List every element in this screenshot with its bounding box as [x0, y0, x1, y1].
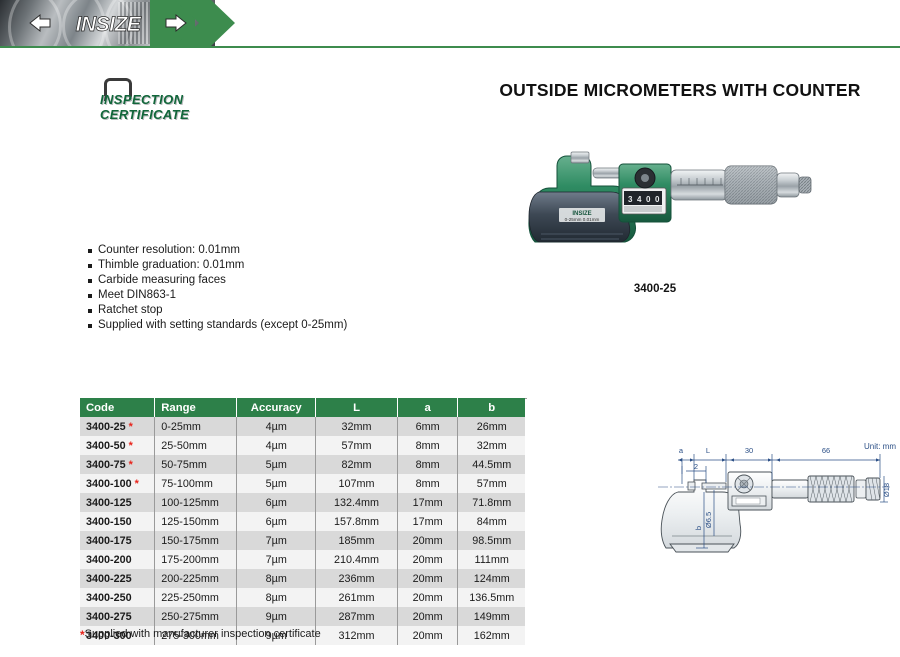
cell-b: 136.5mm: [458, 588, 525, 607]
dim-label-2: 2: [694, 462, 698, 471]
cell-accuracy: 6µm: [237, 493, 316, 512]
square-bullet-icon: [88, 258, 98, 273]
cell-a: 20mm: [397, 588, 458, 607]
feature-text: Supplied with setting standards (except …: [98, 318, 347, 333]
insize-logo: INSIZE: [28, 9, 188, 37]
cell-l: 287mm: [316, 607, 397, 626]
cell-range: 100-125mm: [155, 493, 237, 512]
cell-accuracy: 9µm: [237, 607, 316, 626]
cell-code: 3400-100 *: [80, 474, 155, 493]
feature-text: Thimble graduation: 0.01mm: [98, 258, 244, 273]
cell-l: 157.8mm: [316, 512, 397, 531]
cell-code: 3400-25 *: [80, 417, 155, 436]
certificate-star: *: [126, 459, 133, 471]
table-row: 3400-100 * 75-100mm 5µm 107mm 8mm 57mm: [80, 474, 525, 493]
table-row: 3400-250 225-250mm 8µm 261mm 20mm 136.5m…: [80, 588, 525, 607]
feature-list: Counter resolution: 0.01mm Thimble gradu…: [88, 243, 418, 333]
cell-code: 3400-50 *: [80, 436, 155, 455]
technical-drawing: Unit: mm: [648, 440, 900, 570]
cell-b: 111mm: [458, 550, 525, 569]
feature-text: Counter resolution: 0.01mm: [98, 243, 240, 258]
drawing-anvil: [688, 482, 695, 490]
table-row: 3400-225 200-225mm 8µm 236mm 20mm 124mm: [80, 569, 525, 588]
cell-l: 236mm: [316, 569, 397, 588]
cell-accuracy: 6µm: [237, 512, 316, 531]
dim-label-66: 66: [822, 446, 830, 455]
cell-b: 44.5mm: [458, 455, 525, 474]
product-caption: 3400-25: [565, 283, 745, 295]
feature-text: Meet DIN863-1: [98, 288, 176, 303]
cell-code: 3400-150: [80, 512, 155, 531]
list-item: Counter resolution: 0.01mm: [88, 243, 418, 258]
cell-l: 210.4mm: [316, 550, 397, 569]
column-header-accuracy: Accuracy: [237, 398, 316, 417]
cell-code: 3400-175: [80, 531, 155, 550]
cell-l: 132.4mm: [316, 493, 397, 512]
cell-code: 3400-125: [80, 493, 155, 512]
certificate-star: *: [132, 478, 139, 490]
certificate-star: *: [126, 440, 133, 452]
cell-accuracy: 8µm: [237, 569, 316, 588]
column-header-b: b: [458, 398, 525, 417]
cell-code: 3400-275: [80, 607, 155, 626]
drawing-unit-label: Unit: mm: [864, 442, 896, 451]
table-row: 3400-150 125-150mm 6µm 157.8mm 17mm 84mm: [80, 512, 525, 531]
cell-a: 20mm: [397, 569, 458, 588]
certificate-star: *: [126, 421, 133, 433]
drawing-sleeve: [772, 480, 808, 498]
certificate-text: INSPECTION CERTIFICATE: [100, 93, 250, 121]
list-item: Thimble graduation: 0.01mm: [88, 258, 418, 273]
cell-a: 20mm: [397, 607, 458, 626]
cell-accuracy: 5µm: [237, 455, 316, 474]
square-bullet-icon: [88, 288, 98, 303]
square-bullet-icon: [88, 243, 98, 258]
square-bullet-icon: [88, 318, 98, 333]
certificate-line-2: CERTIFICATE: [100, 108, 250, 121]
list-item: Ratchet stop: [88, 303, 418, 318]
cell-a: 20mm: [397, 550, 458, 569]
svg-text:3: 3: [628, 195, 633, 204]
cell-code: 3400-75 *: [80, 455, 155, 474]
table-row: 3400-125 100-125mm 6µm 132.4mm 17mm 71.8…: [80, 493, 525, 512]
svg-text:0: 0: [646, 195, 651, 204]
cell-a: 8mm: [397, 455, 458, 474]
cell-a: 8mm: [397, 436, 458, 455]
list-item: Meet DIN863-1: [88, 288, 418, 303]
cell-b: 84mm: [458, 512, 525, 531]
ratchet-stop: [777, 173, 799, 197]
table-row: 3400-275 250-275mm 9µm 287mm 20mm 149mm: [80, 607, 525, 626]
cell-range: 200-225mm: [155, 569, 237, 588]
square-bullet-icon: [88, 303, 98, 318]
cell-range: 50-75mm: [155, 455, 237, 474]
cell-b: 124mm: [458, 569, 525, 588]
feature-text: Ratchet stop: [98, 303, 163, 318]
cell-l: 32mm: [316, 417, 397, 436]
table-row: 3400-200 175-200mm 7µm 210.4mm 20mm 111m…: [80, 550, 525, 569]
cell-a: 20mm: [397, 531, 458, 550]
cell-range: 225-250mm: [155, 588, 237, 607]
cell-accuracy: 8µm: [237, 588, 316, 607]
cell-accuracy: 7µm: [237, 531, 316, 550]
column-header-code: Code: [80, 398, 155, 417]
dim-label-30: 30: [745, 446, 753, 455]
footnote-text: Supplied with manufacturer inspection ce…: [85, 628, 321, 640]
list-item: Carbide measuring faces: [88, 273, 418, 288]
cell-l: 107mm: [316, 474, 397, 493]
cell-accuracy: 7µm: [237, 550, 316, 569]
page-title: OUTSIDE MICROMETERS WITH COUNTER: [480, 80, 880, 101]
inspection-certificate-badge: INSPECTION CERTIFICATE: [100, 78, 250, 124]
cell-b: 32mm: [458, 436, 525, 455]
cell-range: 175-200mm: [155, 550, 237, 569]
dim-label-b: b: [694, 526, 703, 530]
column-header-range: Range: [155, 398, 237, 417]
insize-wordmark: INSIZE: [76, 13, 142, 36]
table-row: 3400-175 150-175mm 7µm 185mm 20mm 98.5mm: [80, 531, 525, 550]
cell-b: 149mm: [458, 607, 525, 626]
cell-b: 98.5mm: [458, 531, 525, 550]
square-bullet-icon: [88, 273, 98, 288]
cell-range: 0-25mm: [155, 417, 237, 436]
dim-label-a: a: [679, 446, 684, 455]
dim-label-L: L: [706, 446, 710, 455]
dim-label-diameter-6-5: Ø6.5: [704, 512, 713, 528]
cell-code: 3400-250: [80, 588, 155, 607]
cell-accuracy: 5µm: [237, 474, 316, 493]
svg-text:4: 4: [637, 195, 642, 204]
cell-l: 82mm: [316, 455, 397, 474]
table-row: 3400-25 * 0-25mm 4µm 32mm 6mm 26mm: [80, 417, 525, 436]
header-green-rule: [0, 46, 900, 48]
table-row: 3400-50 * 25-50mm 4µm 57mm 8mm 32mm: [80, 436, 525, 455]
specification-table: Code Range Accuracy L a b 3400-25 * 0-25…: [80, 398, 525, 645]
table-header-row: Code Range Accuracy L a b: [80, 398, 525, 417]
cell-a: 20mm: [397, 626, 458, 645]
cell-range: 250-275mm: [155, 607, 237, 626]
cell-b: 71.8mm: [458, 493, 525, 512]
column-header-a: a: [397, 398, 458, 417]
list-item: Supplied with setting standards (except …: [88, 318, 418, 333]
cell-range: 150-175mm: [155, 531, 237, 550]
cell-l: 185mm: [316, 531, 397, 550]
cell-range: 25-50mm: [155, 436, 237, 455]
svg-text:0: 0: [655, 195, 660, 204]
product-label-range: 0-25mm 0.01mm: [565, 217, 600, 222]
cell-range: 75-100mm: [155, 474, 237, 493]
table-row: 3400-75 * 50-75mm 5µm 82mm 8mm 44.5mm: [80, 455, 525, 474]
product-photo-micrometer: INSIZE 0-25mm 0.01mm 34 00: [505, 140, 825, 270]
cell-code: 3400-225: [80, 569, 155, 588]
table-footnote: *Supplied with manufacturer inspection c…: [80, 628, 321, 642]
cell-l: 312mm: [316, 626, 397, 645]
page-header-band: INSIZE: [0, 0, 900, 46]
anvil: [571, 152, 589, 163]
certificate-line-1: INSPECTION: [100, 93, 250, 106]
cell-b: 26mm: [458, 417, 525, 436]
dim-label-diameter-18: Ø18: [882, 483, 891, 497]
cell-code: 3400-200: [80, 550, 155, 569]
cell-b: 162mm: [458, 626, 525, 645]
cell-l: 261mm: [316, 588, 397, 607]
cell-a: 17mm: [397, 512, 458, 531]
cell-a: 17mm: [397, 493, 458, 512]
cell-b: 57mm: [458, 474, 525, 493]
drawing-spindle: [702, 483, 726, 489]
cell-range: 125-150mm: [155, 512, 237, 531]
cell-accuracy: 4µm: [237, 436, 316, 455]
cell-a: 6mm: [397, 417, 458, 436]
cell-a: 8mm: [397, 474, 458, 493]
column-header-l: L: [316, 398, 397, 417]
cell-accuracy: 4µm: [237, 417, 316, 436]
feature-text: Carbide measuring faces: [98, 273, 226, 288]
cell-l: 57mm: [316, 436, 397, 455]
